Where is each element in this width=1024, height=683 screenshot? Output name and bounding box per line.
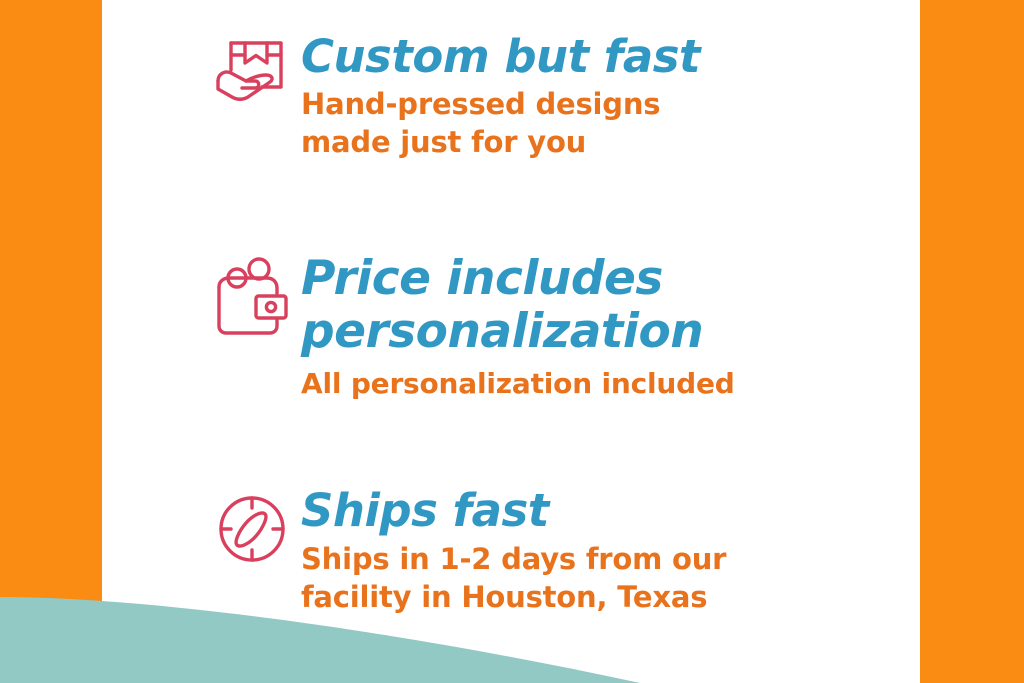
right-orange-bar [920,0,1024,683]
feature-headline: Price includes personalization [301,252,735,358]
feature-subtext: Ships in 1-2 days from our facility in H… [301,540,726,617]
feature-headline: Ships fast [301,487,726,535]
feature-text: Ships fast Ships in 1-2 days from our fa… [301,487,726,616]
compass-icon [215,487,301,567]
feature-subtext: All personalization included [301,366,735,403]
feature-headline: Custom but fast [301,33,700,81]
feature-item-ships-fast: Ships fast Ships in 1-2 days from our fa… [215,487,726,616]
feature-text: Price includes personalization All perso… [301,252,735,403]
feature-subtext: Hand-pressed designs made just for you [301,85,700,162]
features-list: Custom but fast Hand-pressed designs mad… [102,0,920,683]
feature-item-custom-but-fast: Custom but fast Hand-pressed designs mad… [215,33,700,161]
feature-item-price-includes-personalization: Price includes personalization All perso… [215,252,735,403]
feature-text: Custom but fast Hand-pressed designs mad… [301,33,700,161]
left-orange-bar [0,0,102,683]
hand-holding-box-icon [215,33,301,107]
wallet-with-coins-icon [215,252,301,338]
promo-banner: Custom but fast Hand-pressed designs mad… [0,0,1024,683]
